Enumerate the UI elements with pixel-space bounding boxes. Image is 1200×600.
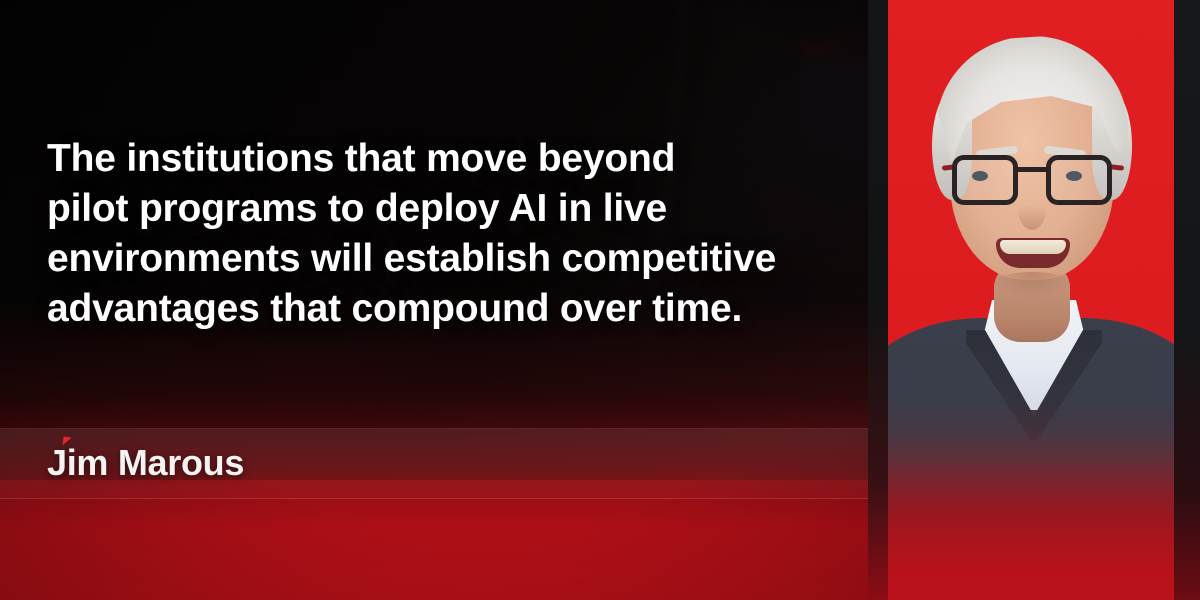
quote-card: The institutions that move beyond pilot … bbox=[0, 0, 1200, 600]
red-accent-mark-icon bbox=[62, 436, 71, 446]
attribution-name: Jim Marous bbox=[47, 442, 244, 484]
glasses-bridge bbox=[1016, 167, 1048, 172]
eye-left bbox=[972, 171, 988, 181]
portrait-panel-left-edge bbox=[868, 0, 889, 600]
eye-right bbox=[1066, 171, 1082, 181]
mouth bbox=[996, 238, 1070, 268]
glasses-lens-right bbox=[1046, 155, 1112, 205]
glasses-lens-left bbox=[952, 155, 1018, 205]
portrait-panel bbox=[888, 0, 1174, 600]
portrait-panel-right-edge bbox=[1174, 0, 1200, 600]
glasses-icon bbox=[950, 155, 1114, 209]
attribution: Jim Marous bbox=[47, 442, 244, 484]
portrait-image bbox=[888, 0, 1174, 600]
teeth bbox=[1000, 240, 1066, 254]
chin-shadow bbox=[988, 272, 1076, 298]
quote-text: The institutions that move beyond pilot … bbox=[47, 134, 867, 334]
